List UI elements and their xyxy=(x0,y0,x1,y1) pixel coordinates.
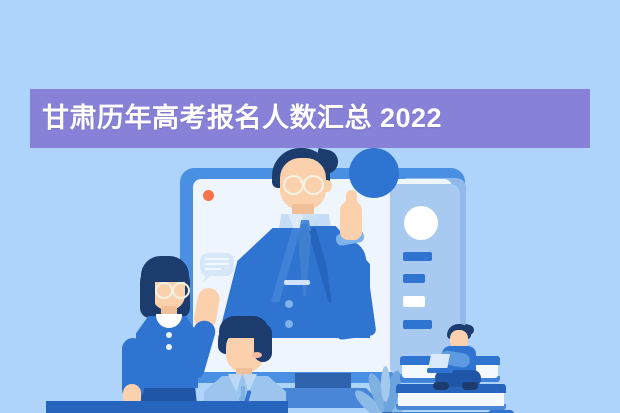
panel-bar xyxy=(403,252,432,261)
chat-bubble-line xyxy=(205,268,221,270)
glasses-icon xyxy=(303,175,324,195)
recording-indicator-icon xyxy=(203,190,214,201)
avatar xyxy=(404,206,438,240)
hero-illustration xyxy=(0,148,620,413)
teacher-button xyxy=(285,300,293,308)
laptop-base xyxy=(427,368,453,373)
glasses-bridge xyxy=(300,181,304,183)
pointing-finger xyxy=(346,190,357,216)
panel-bar xyxy=(403,320,432,329)
chat-bubble-line xyxy=(205,258,229,260)
seated-person-shoe xyxy=(462,382,478,390)
teacher-button xyxy=(285,320,293,328)
screenshot-root: 甘肃历年高考报名人数汇总 2022 xyxy=(0,0,620,413)
glasses-icon xyxy=(283,175,304,195)
panel-bar xyxy=(403,296,425,307)
panel-bar xyxy=(403,274,425,283)
glasses-icon xyxy=(155,282,173,299)
desk-top xyxy=(46,401,288,413)
woman-button xyxy=(166,332,172,338)
woman-button xyxy=(166,344,172,350)
glasses-icon xyxy=(172,282,190,299)
boy-cheek xyxy=(252,352,262,358)
teacher-pocket xyxy=(284,280,310,285)
book-pages xyxy=(398,393,504,406)
video-camera-badge xyxy=(349,148,399,198)
page-title: 甘肃历年高考报名人数汇总 2022 xyxy=(42,89,590,148)
plant-leaf xyxy=(381,366,390,402)
woman-hair-side xyxy=(141,268,155,316)
chat-bubble-line xyxy=(205,263,229,265)
seated-person-shoe xyxy=(433,382,449,390)
